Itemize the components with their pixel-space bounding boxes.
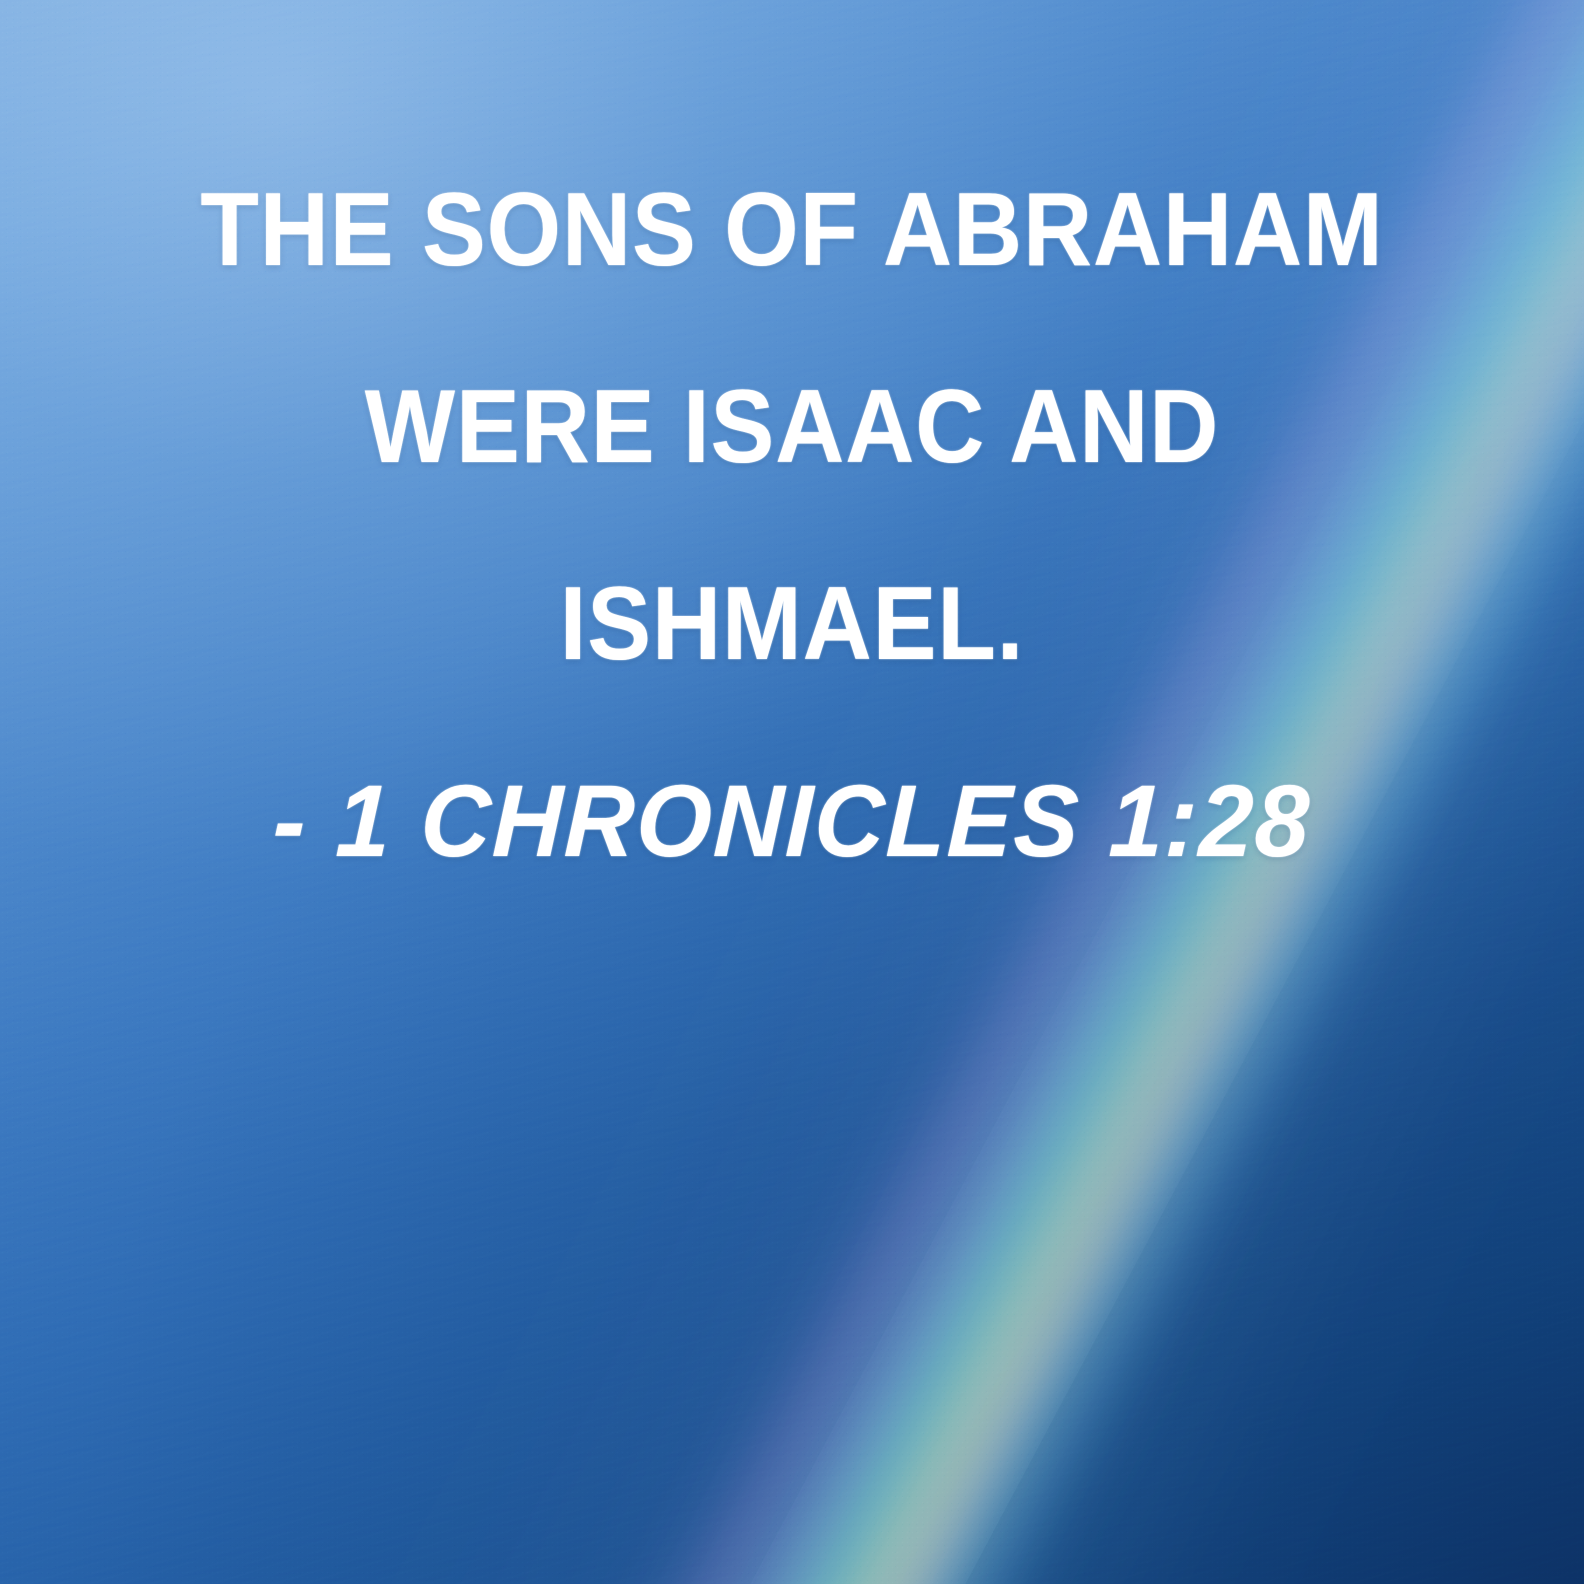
verse-text-block: THE SONS OF ABRAHAM WERE ISAAC AND ISHMA…	[0, 0, 1584, 920]
verse-line-3: ISHMAEL.	[63, 526, 1520, 723]
verse-line-1: THE SONS OF ABRAHAM	[63, 132, 1520, 329]
verse-citation: - 1 CHRONICLES 1:28	[36, 723, 1547, 920]
verse-image-canvas: THE SONS OF ABRAHAM WERE ISAAC AND ISHMA…	[0, 0, 1584, 1584]
verse-line-2: WERE ISAAC AND	[63, 329, 1520, 526]
